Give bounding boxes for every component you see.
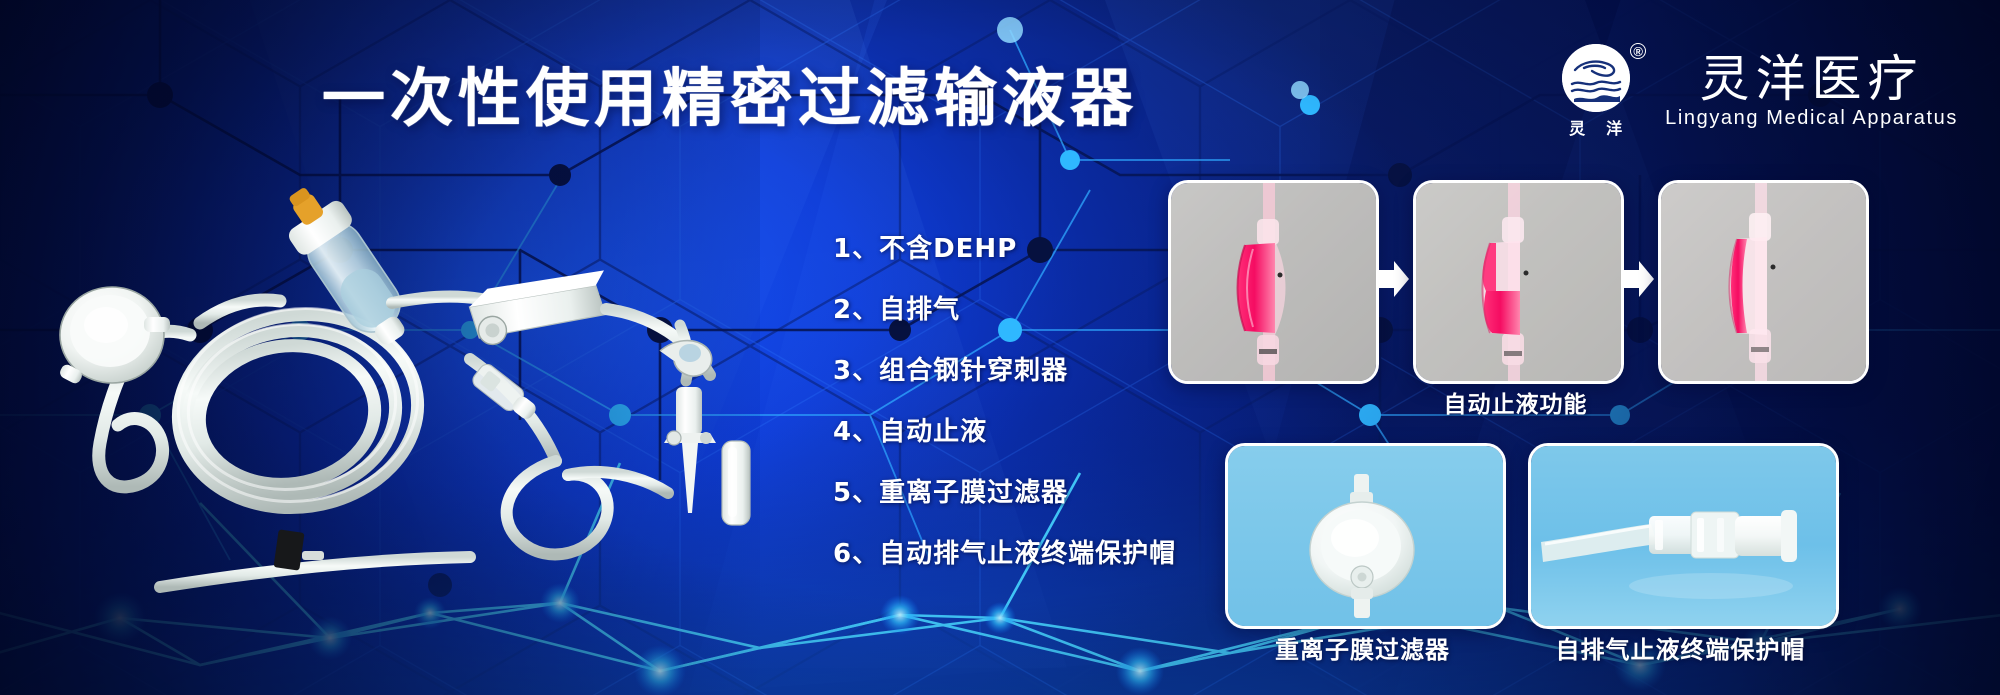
arrow-right-icon <box>1377 259 1411 299</box>
roller-clamp <box>467 270 611 346</box>
autostop-step-photo-3 <box>1658 180 1869 384</box>
registered-trademark-icon: ® <box>1630 43 1646 59</box>
feature-item: 2、自排气 <box>833 289 1176 326</box>
inline-filter <box>58 287 170 385</box>
brand-mark: ® 灵 洋 <box>1549 44 1643 139</box>
detail-caption-protective-cap: 自排气止液终端保护帽 <box>1528 630 1833 665</box>
brand-mark-subtext: 灵 洋 <box>1569 115 1623 139</box>
y-site-connector <box>470 361 541 425</box>
detail-photo-protective-cap <box>1528 443 1839 629</box>
autostop-caption: 自动止液功能 <box>1168 385 1863 419</box>
page-title: 一次性使用精密过滤输液器 <box>322 48 1138 139</box>
feature-item: 6、自动排气止液终端保护帽 <box>833 533 1176 570</box>
product-photo <box>40 175 800 595</box>
feature-item: 5、重离子膜过滤器 <box>833 472 1176 509</box>
detail-photo-filter <box>1225 443 1506 629</box>
protective-cap <box>722 441 750 525</box>
steel-needle-assembly <box>660 325 716 513</box>
brand-name-cn: 灵洋医疗 <box>1700 54 1924 105</box>
detail-caption-filter: 重离子膜过滤器 <box>1225 630 1500 665</box>
brand-mark-sub-left: 灵 <box>1569 115 1586 139</box>
lingyang-wave-circle-logo <box>1562 44 1630 112</box>
product-banner: 一次性使用精密过滤输液器 ® 灵 洋 <box>0 0 2000 695</box>
brand-logo: ® 灵 洋 灵洋医疗 Lingyang Medical Apparatus <box>1549 44 1958 139</box>
autostop-step-photo-2 <box>1413 180 1624 384</box>
feature-item: 4、自动止液 <box>833 411 1176 448</box>
feature-item: 3、组合钢针穿刺器 <box>833 350 1176 387</box>
autostop-step-photo-1 <box>1168 180 1379 384</box>
feature-list: 1、不含DEHP 2、自排气 3、组合钢针穿刺器 4、自动止液 5、重离子膜过滤… <box>833 228 1176 570</box>
brand-mark-sub-right: 洋 <box>1606 115 1623 139</box>
brand-text: 灵洋医疗 Lingyang Medical Apparatus <box>1665 54 1958 130</box>
brand-name-en: Lingyang Medical Apparatus <box>1665 107 1958 130</box>
arrow-right-icon <box>1622 259 1656 299</box>
feature-item: 1、不含DEHP <box>833 228 1176 265</box>
